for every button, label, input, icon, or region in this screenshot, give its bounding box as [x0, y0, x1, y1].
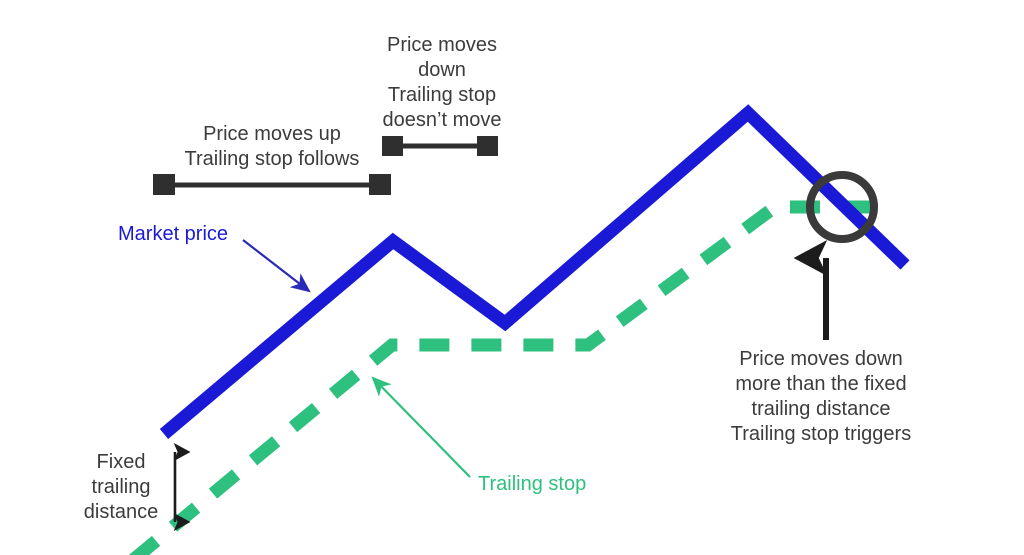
measure-bar-price-up: [153, 174, 391, 195]
annotation-price-moves-up: Price moves up Trailing stop follows: [148, 122, 396, 172]
legend-trailing-stop: Trailing stop: [478, 472, 618, 497]
trailing-stop-pointer-arrow: [373, 378, 470, 477]
annotation-fixed-trailing-distance: Fixed trailing distance: [74, 450, 168, 525]
annotation-trailing-stop-triggers: Price moves down more than the fixed tra…: [716, 347, 926, 447]
diagram-canvas: Price moves up Trailing stop follows Pri…: [0, 0, 1024, 555]
annotation-price-moves-down: Price moves down Trailing stop doesn’t m…: [368, 33, 516, 133]
market-price-pointer-arrow: [243, 240, 309, 291]
legend-market-price: Market price: [118, 222, 258, 247]
measure-bar-price-down: [382, 136, 498, 156]
